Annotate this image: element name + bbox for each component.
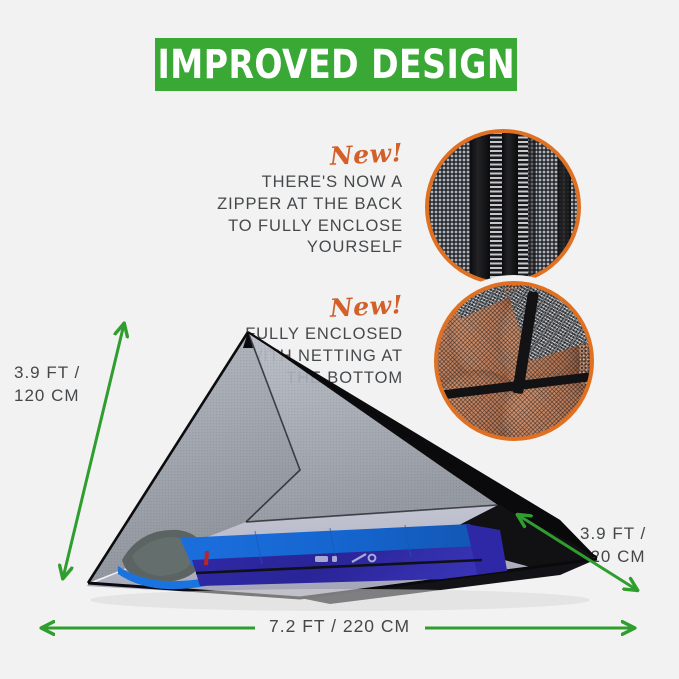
infographic-page: IMPROVED DESIGN New! THERE'S NOW A ZIPPE… [0,0,679,679]
depth-arrow [518,515,637,590]
dimension-arrows [0,0,679,679]
height-arrow [63,324,124,578]
